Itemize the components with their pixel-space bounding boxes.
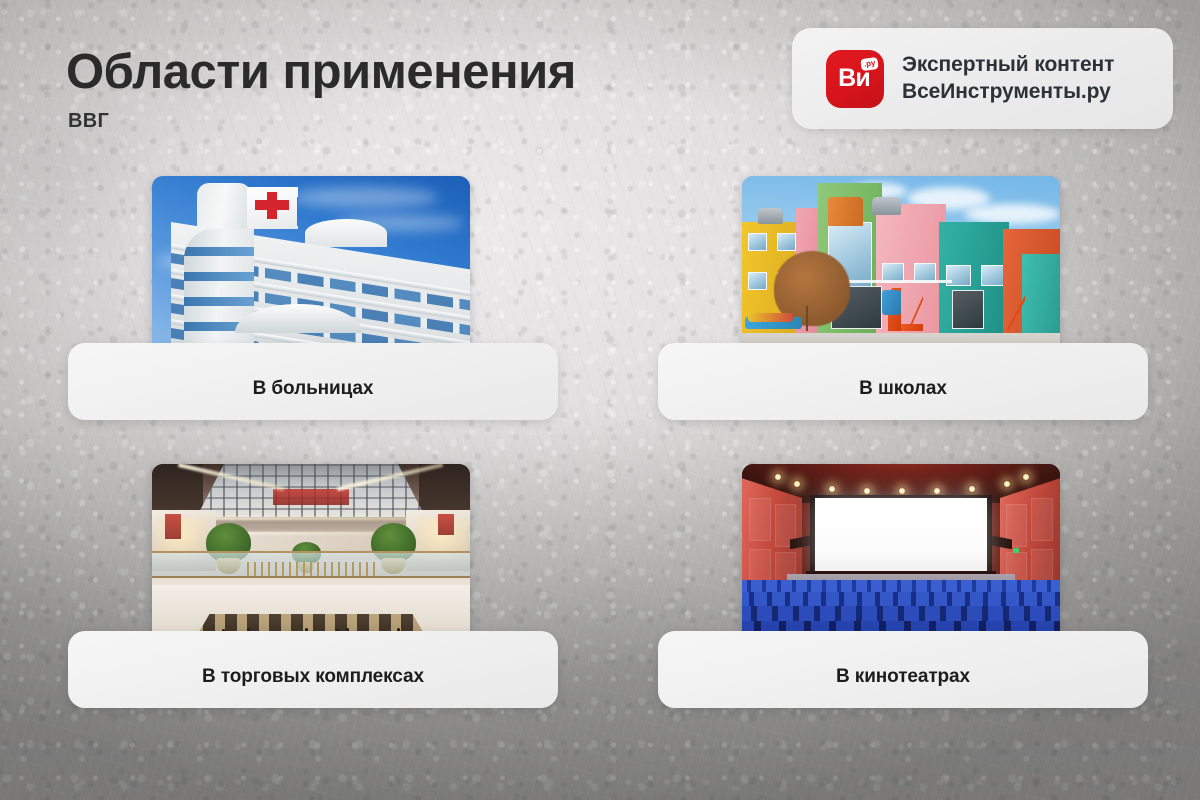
vseinstrumenty-logo-icon: Ви .ру: [826, 50, 884, 108]
playground-slide-base: [901, 324, 923, 331]
logo-superscript-badge: .ру: [860, 56, 879, 70]
page-title: Области применения: [66, 44, 576, 100]
exit-sign-icon: [1013, 548, 1019, 553]
school-cylinder-orange: [828, 197, 863, 225]
card-label-text: В школах: [859, 378, 947, 400]
application-card-cinemas[interactable]: В кинотеатрах: [658, 464, 1148, 708]
card-label-text: В торговых комплексах: [202, 666, 424, 688]
shop-sign: [438, 514, 454, 535]
playground-arch: [882, 290, 901, 315]
application-card-malls[interactable]: В торговых комплексах: [68, 464, 558, 708]
antenna: [297, 197, 298, 225]
red-cross-icon: [255, 200, 289, 210]
brand-company-name: ВсеИнструменты.ру: [902, 80, 1114, 104]
cove-light: [203, 517, 419, 520]
curved-glass-wing: [184, 229, 254, 354]
brand-text-block: Экспертный контент ВсеИнструменты.ру: [902, 53, 1114, 104]
brand-tagline: Экспертный контент: [902, 53, 1114, 77]
dome-roof: [305, 219, 388, 247]
red-banner: [273, 489, 349, 505]
card-label-panel: В больницах: [68, 343, 558, 420]
cloud-shape: [965, 204, 1060, 224]
roof-tank: [872, 197, 901, 215]
tree-trunk: [806, 306, 808, 331]
cinema-hall-photo: [742, 464, 1060, 642]
playground-equipment: [748, 313, 793, 322]
hospital-building-photo: [152, 176, 470, 354]
cinema-screen: [815, 498, 987, 571]
railing-balusters: [247, 562, 374, 576]
card-label-panel: В школах: [658, 343, 1148, 420]
school-wing-teal-2: [1022, 254, 1060, 332]
roof-tank: [758, 208, 783, 224]
infographic-slide: Области применения ВВГ Ви .ру Экспертный…: [0, 0, 1200, 800]
application-card-hospitals[interactable]: В больницах: [68, 176, 558, 420]
page-subtitle: ВВГ: [68, 110, 109, 133]
card-label-text: В кинотеатрах: [836, 666, 970, 688]
brand-badge: Ви .ру Экспертный контент ВсеИнструменты…: [792, 28, 1173, 129]
cloud-shape: [292, 187, 438, 208]
application-card-schools[interactable]: В школах: [658, 176, 1148, 420]
card-label-panel: В торговых комплексах: [68, 631, 558, 708]
card-label-panel: В кинотеатрах: [658, 631, 1148, 708]
school-building-photo: [742, 176, 1060, 354]
shop-sign: [165, 514, 181, 539]
card-label-text: В больницах: [253, 378, 374, 400]
shopping-mall-photo: [152, 464, 470, 642]
